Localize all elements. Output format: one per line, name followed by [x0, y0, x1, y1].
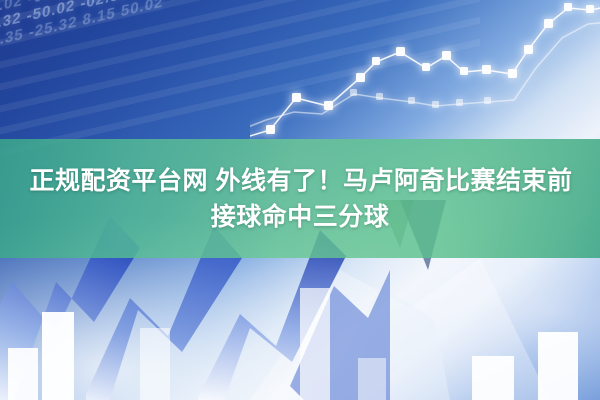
glowing-line-chart-graphic — [250, 0, 600, 154]
article-thumbnail-banner: -03.02 -02.31 -11.25 +5.02 21.06 -50.35 … — [0, 0, 600, 400]
headline-text: 正规配资平台网 外线有了！马卢阿奇比赛结束前 接球命中三分球 — [0, 139, 600, 258]
headline-line-1: 正规配资平台网 外线有了！马卢阿奇比赛结束前 — [28, 165, 573, 197]
headline-line-2: 接球命中三分球 — [211, 201, 390, 233]
white-bar-chart-graphic — [0, 270, 600, 400]
